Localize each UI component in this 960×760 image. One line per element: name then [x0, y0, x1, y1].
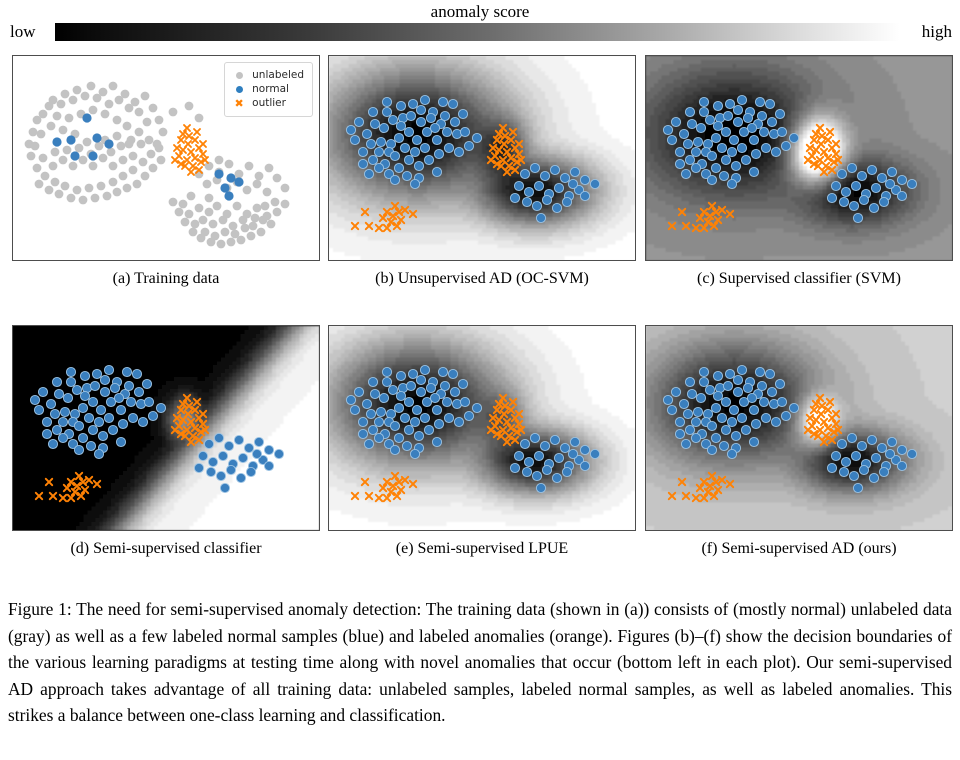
- data-point: [205, 194, 214, 203]
- data-point: [400, 143, 409, 152]
- data-point: [717, 143, 726, 152]
- legend-item-normal: normal: [231, 83, 304, 96]
- data-point: [727, 179, 736, 188]
- data-point: [432, 437, 441, 446]
- data-point: [366, 139, 375, 148]
- data-point: [119, 156, 128, 165]
- data-point: [273, 174, 282, 183]
- data-point: [70, 151, 79, 160]
- data-point: [719, 441, 728, 450]
- data-point: [424, 425, 433, 434]
- data-point: [149, 164, 158, 173]
- data-point: [554, 453, 563, 462]
- data-point: [721, 155, 730, 164]
- data-point: [220, 183, 229, 192]
- data-point: [524, 187, 533, 196]
- data-point: [84, 413, 93, 422]
- data-point: [221, 228, 230, 237]
- data-point: [362, 129, 371, 138]
- data-point: [261, 202, 270, 211]
- data-point: [408, 99, 417, 108]
- data-point: [252, 449, 261, 458]
- data-point: [224, 441, 233, 450]
- data-point: [885, 449, 894, 458]
- data-point: [45, 102, 54, 111]
- data-point: [450, 117, 459, 126]
- data-point: [144, 397, 153, 406]
- data-point: [370, 389, 379, 398]
- data-point: [747, 123, 756, 132]
- data-point: [416, 387, 425, 396]
- data-point: [155, 116, 164, 125]
- panel-cell-d: (d) Semi-supervised classifier: [12, 325, 320, 559]
- data-point: [376, 407, 385, 416]
- data-point: [243, 186, 252, 195]
- data-point: [27, 152, 36, 161]
- data-point: [568, 179, 577, 188]
- data-point: [410, 449, 419, 458]
- data-point: [741, 155, 750, 164]
- data-point: [132, 369, 141, 378]
- data-point: [205, 162, 214, 171]
- data-point: [92, 369, 101, 378]
- data-point: [464, 411, 473, 420]
- data-point: [685, 107, 694, 116]
- data-point: [263, 188, 272, 197]
- data-point: [426, 383, 435, 392]
- data-point: [416, 375, 425, 384]
- data-point: [58, 417, 67, 426]
- data-point: [78, 433, 87, 442]
- panel-cell-f: (f) Semi-supervised AD (ours): [645, 325, 953, 559]
- data-point: [771, 147, 780, 156]
- data-point: [115, 96, 124, 105]
- data-point: [675, 147, 684, 156]
- data-point: [48, 439, 57, 448]
- data-point: [699, 97, 708, 106]
- data-point: [88, 425, 97, 434]
- data-point: [879, 467, 888, 476]
- data-point: [691, 433, 700, 442]
- data-point: [406, 111, 415, 120]
- data-point: [103, 192, 112, 201]
- data-point: [60, 407, 69, 416]
- data-point: [420, 143, 429, 152]
- data-point: [767, 117, 776, 126]
- data-point: [767, 387, 776, 396]
- data-point: [406, 381, 415, 390]
- data-point: [532, 471, 541, 480]
- data-point: [113, 116, 122, 125]
- data-point: [374, 147, 383, 156]
- data-point: [376, 137, 385, 146]
- plot-canvas-c: [646, 56, 952, 260]
- legend-label-outlier: outlier: [252, 97, 286, 110]
- data-point: [420, 413, 429, 422]
- data-point: [454, 417, 463, 426]
- data-point: [59, 126, 68, 135]
- data-point: [82, 113, 91, 122]
- data-point: [91, 194, 100, 203]
- data-point: [729, 135, 738, 144]
- data-point: [354, 117, 363, 126]
- data-point: [107, 148, 116, 157]
- data-point: [281, 184, 290, 193]
- data-point: [713, 391, 722, 400]
- data-point: [88, 151, 97, 160]
- data-point: [53, 112, 62, 121]
- data-point: [119, 172, 128, 181]
- data-point: [125, 140, 134, 149]
- data-point: [897, 461, 906, 470]
- data-point: [149, 104, 158, 113]
- data-point: [761, 143, 770, 152]
- colorbar-high-label: high: [922, 22, 952, 42]
- data-point: [239, 216, 248, 225]
- data-point: [79, 156, 88, 165]
- data-point: [444, 413, 453, 422]
- data-point: [759, 397, 768, 406]
- data-point: [368, 107, 377, 116]
- data-point: [687, 119, 696, 128]
- data-point: [354, 387, 363, 396]
- data-point: [683, 139, 692, 148]
- data-point: [696, 123, 705, 132]
- legend-item-outlier: ✖ outlier: [231, 97, 304, 110]
- legend-label-unlabeled: unlabeled: [252, 69, 304, 82]
- data-point: [175, 208, 184, 217]
- data-point: [590, 179, 599, 188]
- data-point: [871, 183, 880, 192]
- data-point: [382, 377, 391, 386]
- data-point: [837, 439, 846, 448]
- data-point: [45, 186, 54, 195]
- data-point: [236, 473, 245, 482]
- data-point: [390, 175, 399, 184]
- data-point: [135, 108, 144, 117]
- data-point: [420, 365, 429, 374]
- data-point: [116, 437, 125, 446]
- data-point: [713, 371, 722, 380]
- data-point: [432, 167, 441, 176]
- data-point: [731, 431, 740, 440]
- data-point: [434, 149, 443, 158]
- data-point: [749, 167, 758, 176]
- data-point: [410, 147, 419, 156]
- data-point: [841, 187, 850, 196]
- data-point: [705, 385, 714, 394]
- data-point: [96, 405, 105, 414]
- data-point: [141, 92, 150, 101]
- data-point: [38, 387, 47, 396]
- data-point: [749, 437, 758, 446]
- data-point: [235, 170, 244, 179]
- data-point: [224, 191, 233, 200]
- data-point: [233, 202, 242, 211]
- data-point: [54, 389, 63, 398]
- data-point: [128, 413, 137, 422]
- data-point: [264, 461, 273, 470]
- data-point: [169, 198, 178, 207]
- data-point: [229, 222, 238, 231]
- data-point: [444, 143, 453, 152]
- data-point: [99, 154, 108, 163]
- data-point: [789, 403, 798, 412]
- data-point: [134, 387, 143, 396]
- data-point: [789, 133, 798, 142]
- data-point: [113, 132, 122, 141]
- data-point: [532, 201, 541, 210]
- data-point: [237, 236, 246, 245]
- data-point: [358, 159, 367, 168]
- panel-cell-b: (b) Unsupervised AD (OC-SVM): [328, 55, 636, 289]
- data-point: [887, 167, 896, 176]
- data-point: [73, 186, 82, 195]
- subcaption-e: (e) Semi-supervised LPUE: [328, 539, 636, 559]
- data-point: [542, 195, 551, 204]
- data-point: [126, 397, 135, 406]
- data-point: [234, 177, 243, 186]
- legend: unlabeled normal ✖ outlier: [224, 62, 313, 117]
- data-point: [364, 169, 373, 178]
- data-point: [412, 135, 421, 144]
- data-point: [79, 196, 88, 205]
- data-point: [412, 405, 421, 414]
- data-point: [179, 200, 188, 209]
- data-point: [667, 135, 676, 144]
- data-point: [693, 407, 702, 416]
- data-point: [205, 208, 214, 217]
- data-point: [118, 419, 127, 428]
- data-point: [52, 377, 61, 386]
- data-point: [663, 395, 672, 404]
- data-point: [259, 216, 268, 225]
- data-point: [241, 224, 250, 233]
- data-point: [87, 82, 96, 91]
- data-point: [69, 96, 78, 105]
- data-point: [897, 445, 906, 454]
- data-point: [887, 437, 896, 446]
- data-point: [580, 461, 589, 470]
- data-point: [41, 172, 50, 181]
- data-point: [52, 137, 61, 146]
- data-point: [681, 169, 690, 178]
- data-point: [138, 417, 147, 426]
- data-point: [253, 180, 262, 189]
- panel-cell-e: (e) Semi-supervised LPUE: [328, 325, 636, 559]
- data-point: [885, 179, 894, 188]
- data-point: [215, 156, 224, 165]
- data-point: [867, 435, 876, 444]
- data-point: [458, 109, 467, 118]
- data-point: [358, 147, 367, 156]
- data-point: [97, 182, 106, 191]
- data-point: [105, 100, 114, 109]
- data-point: [203, 180, 212, 189]
- data-point: [696, 393, 705, 402]
- data-point: [867, 165, 876, 174]
- data-point: [394, 163, 403, 172]
- data-point: [743, 113, 752, 122]
- data-point: [707, 175, 716, 184]
- data-point: [671, 387, 680, 396]
- data-point: [129, 166, 138, 175]
- data-point: [49, 162, 58, 171]
- data-point: [522, 197, 531, 206]
- data-point: [113, 188, 122, 197]
- data-point: [721, 397, 730, 406]
- data-point: [52, 425, 61, 434]
- data-point: [123, 122, 132, 131]
- plot-panel-f: [645, 325, 953, 531]
- data-point: [253, 204, 262, 213]
- data-point: [195, 204, 204, 213]
- data-point: [514, 451, 523, 460]
- figure-page: anomaly score low high unlabeled normal: [0, 0, 960, 760]
- data-point: [853, 483, 862, 492]
- data-point: [394, 403, 403, 412]
- data-point: [699, 377, 708, 386]
- data-point: [472, 133, 481, 142]
- data-point: [755, 367, 764, 376]
- data-point: [271, 198, 280, 207]
- data-point: [368, 425, 377, 434]
- data-point: [198, 451, 207, 460]
- data-point: [450, 387, 459, 396]
- data-point: [58, 433, 67, 442]
- plot-canvas-f: [646, 326, 952, 530]
- data-point: [94, 449, 103, 458]
- data-point: [663, 125, 672, 134]
- data-point: [225, 160, 234, 169]
- data-point: [81, 92, 90, 101]
- data-point: [267, 220, 276, 229]
- data-point: [442, 127, 451, 136]
- data-point: [472, 403, 481, 412]
- colorbar-low-label: low: [10, 22, 36, 42]
- subcaption-b: (b) Unsupervised AD (OC-SVM): [328, 269, 636, 289]
- plot-panel-c: [645, 55, 953, 261]
- data-point: [238, 453, 247, 462]
- data-point: [721, 425, 730, 434]
- data-point: [777, 397, 786, 406]
- data-point: [156, 403, 165, 412]
- data-point: [379, 393, 388, 402]
- data-point: [713, 101, 722, 110]
- data-point: [757, 111, 766, 120]
- data-point: [727, 449, 736, 458]
- data-point: [88, 397, 97, 406]
- data-point: [346, 125, 355, 134]
- data-point: [104, 139, 113, 148]
- data-point: [191, 220, 200, 229]
- data-point: [274, 449, 283, 458]
- data-point: [30, 395, 39, 404]
- plot-panel-b: [328, 55, 636, 261]
- plot-canvas-b: [329, 56, 635, 260]
- panel-cell-a: unlabeled normal ✖ outlier (a) Training …: [12, 55, 320, 289]
- data-point: [362, 399, 371, 408]
- panel-grid: unlabeled normal ✖ outlier (a) Training …: [0, 55, 960, 575]
- outlier-marker-icon: ✖: [231, 98, 247, 109]
- data-point: [731, 161, 740, 170]
- data-point: [61, 182, 70, 191]
- data-point: [218, 451, 227, 460]
- colorbar-gradient: [55, 23, 900, 41]
- data-point: [169, 108, 178, 117]
- data-point: [147, 150, 156, 159]
- data-point: [114, 393, 123, 402]
- plot-canvas-e: [329, 326, 635, 530]
- data-point: [404, 397, 413, 406]
- data-point: [39, 154, 48, 163]
- data-point: [749, 135, 758, 144]
- data-point: [765, 369, 774, 378]
- data-point: [78, 403, 87, 412]
- data-point: [404, 155, 413, 164]
- data-point: [691, 417, 700, 426]
- data-point: [590, 449, 599, 458]
- data-point: [273, 208, 282, 217]
- data-point: [396, 391, 405, 400]
- data-point: [213, 202, 222, 211]
- data-point: [741, 425, 750, 434]
- data-point: [257, 228, 266, 237]
- data-point: [37, 130, 46, 139]
- data-point: [129, 152, 138, 161]
- data-point: [187, 192, 196, 201]
- data-point: [208, 457, 217, 466]
- data-point: [440, 381, 449, 390]
- data-point: [524, 457, 533, 466]
- data-point: [536, 213, 545, 222]
- data-point: [879, 197, 888, 206]
- data-point: [34, 405, 43, 414]
- data-point: [101, 110, 110, 119]
- data-point: [370, 119, 379, 128]
- data-point: [63, 393, 72, 402]
- data-point: [671, 117, 680, 126]
- data-point: [358, 429, 367, 438]
- data-point: [857, 441, 866, 450]
- data-point: [104, 365, 113, 374]
- data-point: [460, 397, 469, 406]
- data-point: [364, 439, 373, 448]
- data-point: [142, 379, 151, 388]
- data-point: [123, 184, 132, 193]
- data-point: [108, 425, 117, 434]
- data-point: [382, 107, 391, 116]
- data-point: [562, 197, 571, 206]
- data-point: [125, 104, 134, 113]
- data-point: [396, 121, 405, 130]
- data-point: [675, 159, 684, 168]
- data-point: [59, 156, 68, 165]
- data-point: [416, 105, 425, 114]
- data-point: [234, 435, 243, 444]
- data-point: [727, 147, 736, 156]
- data-point: [368, 155, 377, 164]
- data-point: [265, 164, 274, 173]
- data-point: [877, 173, 886, 182]
- data-point: [110, 383, 119, 392]
- data-point: [464, 141, 473, 150]
- data-point: [691, 147, 700, 156]
- data-point: [851, 181, 860, 190]
- data-point: [737, 143, 746, 152]
- data-point: [181, 218, 190, 227]
- data-point: [92, 133, 101, 142]
